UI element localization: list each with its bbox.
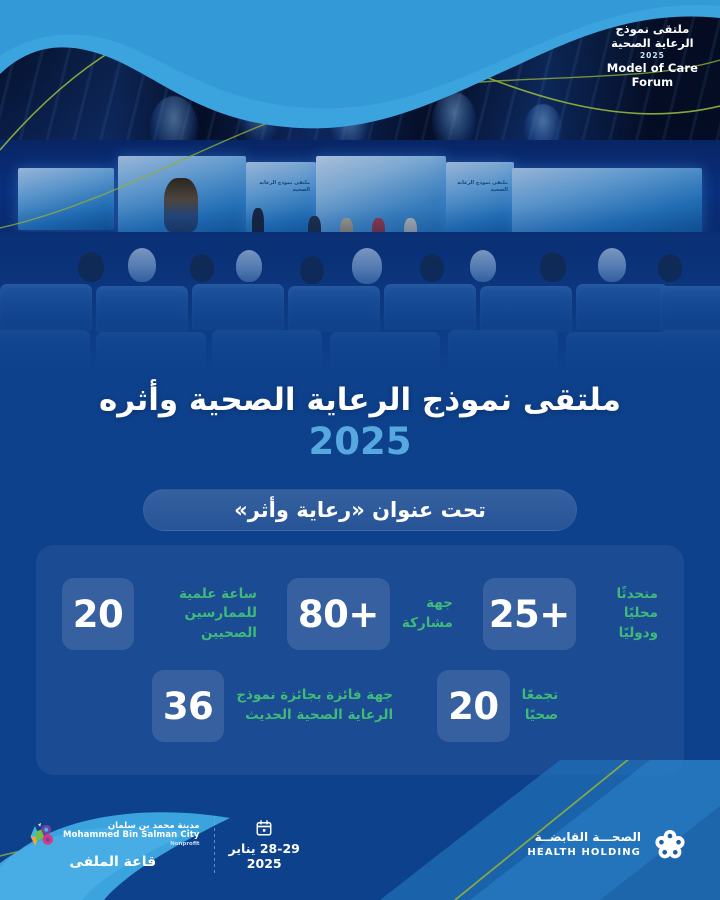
subtitle-pill: تحت عنوان «رعاية وأثر» [143,489,577,531]
stat-item: جهة مشاركة 80+ [287,578,453,650]
venue-date-block: 28-29 يناير 2025 مدينة محمد بن سلمان Moh… [26,816,300,874]
event-logo-arabic-line1: ملتقى نموذج [607,22,698,36]
venue-name: مدينة محمد بن سلمان Mohammed Bin Salman … [63,822,200,848]
sponsor-name-arabic: الصحـــة القابضــة [527,830,641,846]
event-logo-arabic-line2: الرعاية الصحية [607,36,698,50]
event-date-days: 28-29 يناير [229,841,300,856]
stat-number: 80+ [287,578,390,650]
calendar-icon [255,819,273,837]
stat-item: تجمعًا صحيًا 20 [437,670,558,742]
stat-label: تجمعًا صحيًا [522,686,559,725]
stat-number: 25+ [483,578,576,650]
title-year: 2025 [0,420,720,463]
venue-logo-row: مدينة محمد بن سلمان Mohammed Bin Salman … [26,820,200,850]
sponsor-name-english: HEALTH HOLDING [527,846,641,859]
venue-block: مدينة محمد بن سلمان Mohammed Bin Salman … [26,820,200,870]
stat-item: ساعة علمية للممارسين الصحيين 20 [62,578,257,650]
stat-number: 20 [437,670,510,742]
stats-row-2: تجمعًا صحيًا 20 جهة فائزة بجائزة نموذج ا… [62,670,658,742]
stat-label: متحدثًا محليًا ودوليًا [588,585,658,644]
sponsor-name: الصحـــة القابضــة HEALTH HOLDING [527,830,641,859]
venue-name-english: Mohammed Bin Salman City [63,831,200,841]
stats-card: متحدثًا محليًا ودوليًا 25+ جهة مشاركة 80… [36,545,684,775]
title-block: ملتقى نموذج الرعاية الصحية وأثره 2025 [0,382,720,463]
stat-item: جهة فائزة بجائزة نموذج الرعاية الصحية ال… [152,670,393,742]
stat-number: 36 [152,670,225,742]
stat-number: 20 [62,578,134,650]
event-logo: ملتقى نموذج الرعاية الصحية 2025 Model of… [607,22,698,89]
page-title: ملتقى نموذج الرعاية الصحية وأثره [0,382,720,418]
venue-hall-name: قاعة الملفى [69,854,156,870]
event-logo-english-line2: Forum [607,75,698,89]
mbs-city-logo [26,820,56,850]
footer: الصحـــة القابضــة HEALTH HOLDING 28-29 … [0,795,720,900]
event-logo-year: 2025 [607,51,698,60]
event-date-year: 2025 [247,856,282,871]
footer-content: الصحـــة القابضــة HEALTH HOLDING 28-29 … [0,795,720,900]
health-holding-flower-logo [652,827,688,863]
venue-nonprofit-label: Nonprofit [63,841,200,847]
subtitle-text: تحت عنوان «رعاية وأثر» [234,498,486,522]
stats-row-1: متحدثًا محليًا ودوليًا 25+ جهة مشاركة 80… [62,578,658,650]
stat-label: ساعة علمية للممارسين الصحيين [146,585,257,644]
stat-label: جهة فائزة بجائزة نموذج الرعاية الصحية ال… [236,686,393,725]
sponsor-block: الصحـــة القابضــة HEALTH HOLDING [527,827,688,863]
event-logo-english-line1: Model of Care [607,61,698,75]
event-date: 28-29 يناير 2025 [229,819,300,871]
mbs-city-logo-mark [26,820,56,850]
event-poster: ملتقى نموذج الرعاية الصحية ملتقى نموذج ا… [0,0,720,900]
stat-item: متحدثًا محليًا ودوليًا 25+ [483,578,658,650]
stat-label: جهة مشاركة [402,594,453,633]
divider [214,816,215,874]
